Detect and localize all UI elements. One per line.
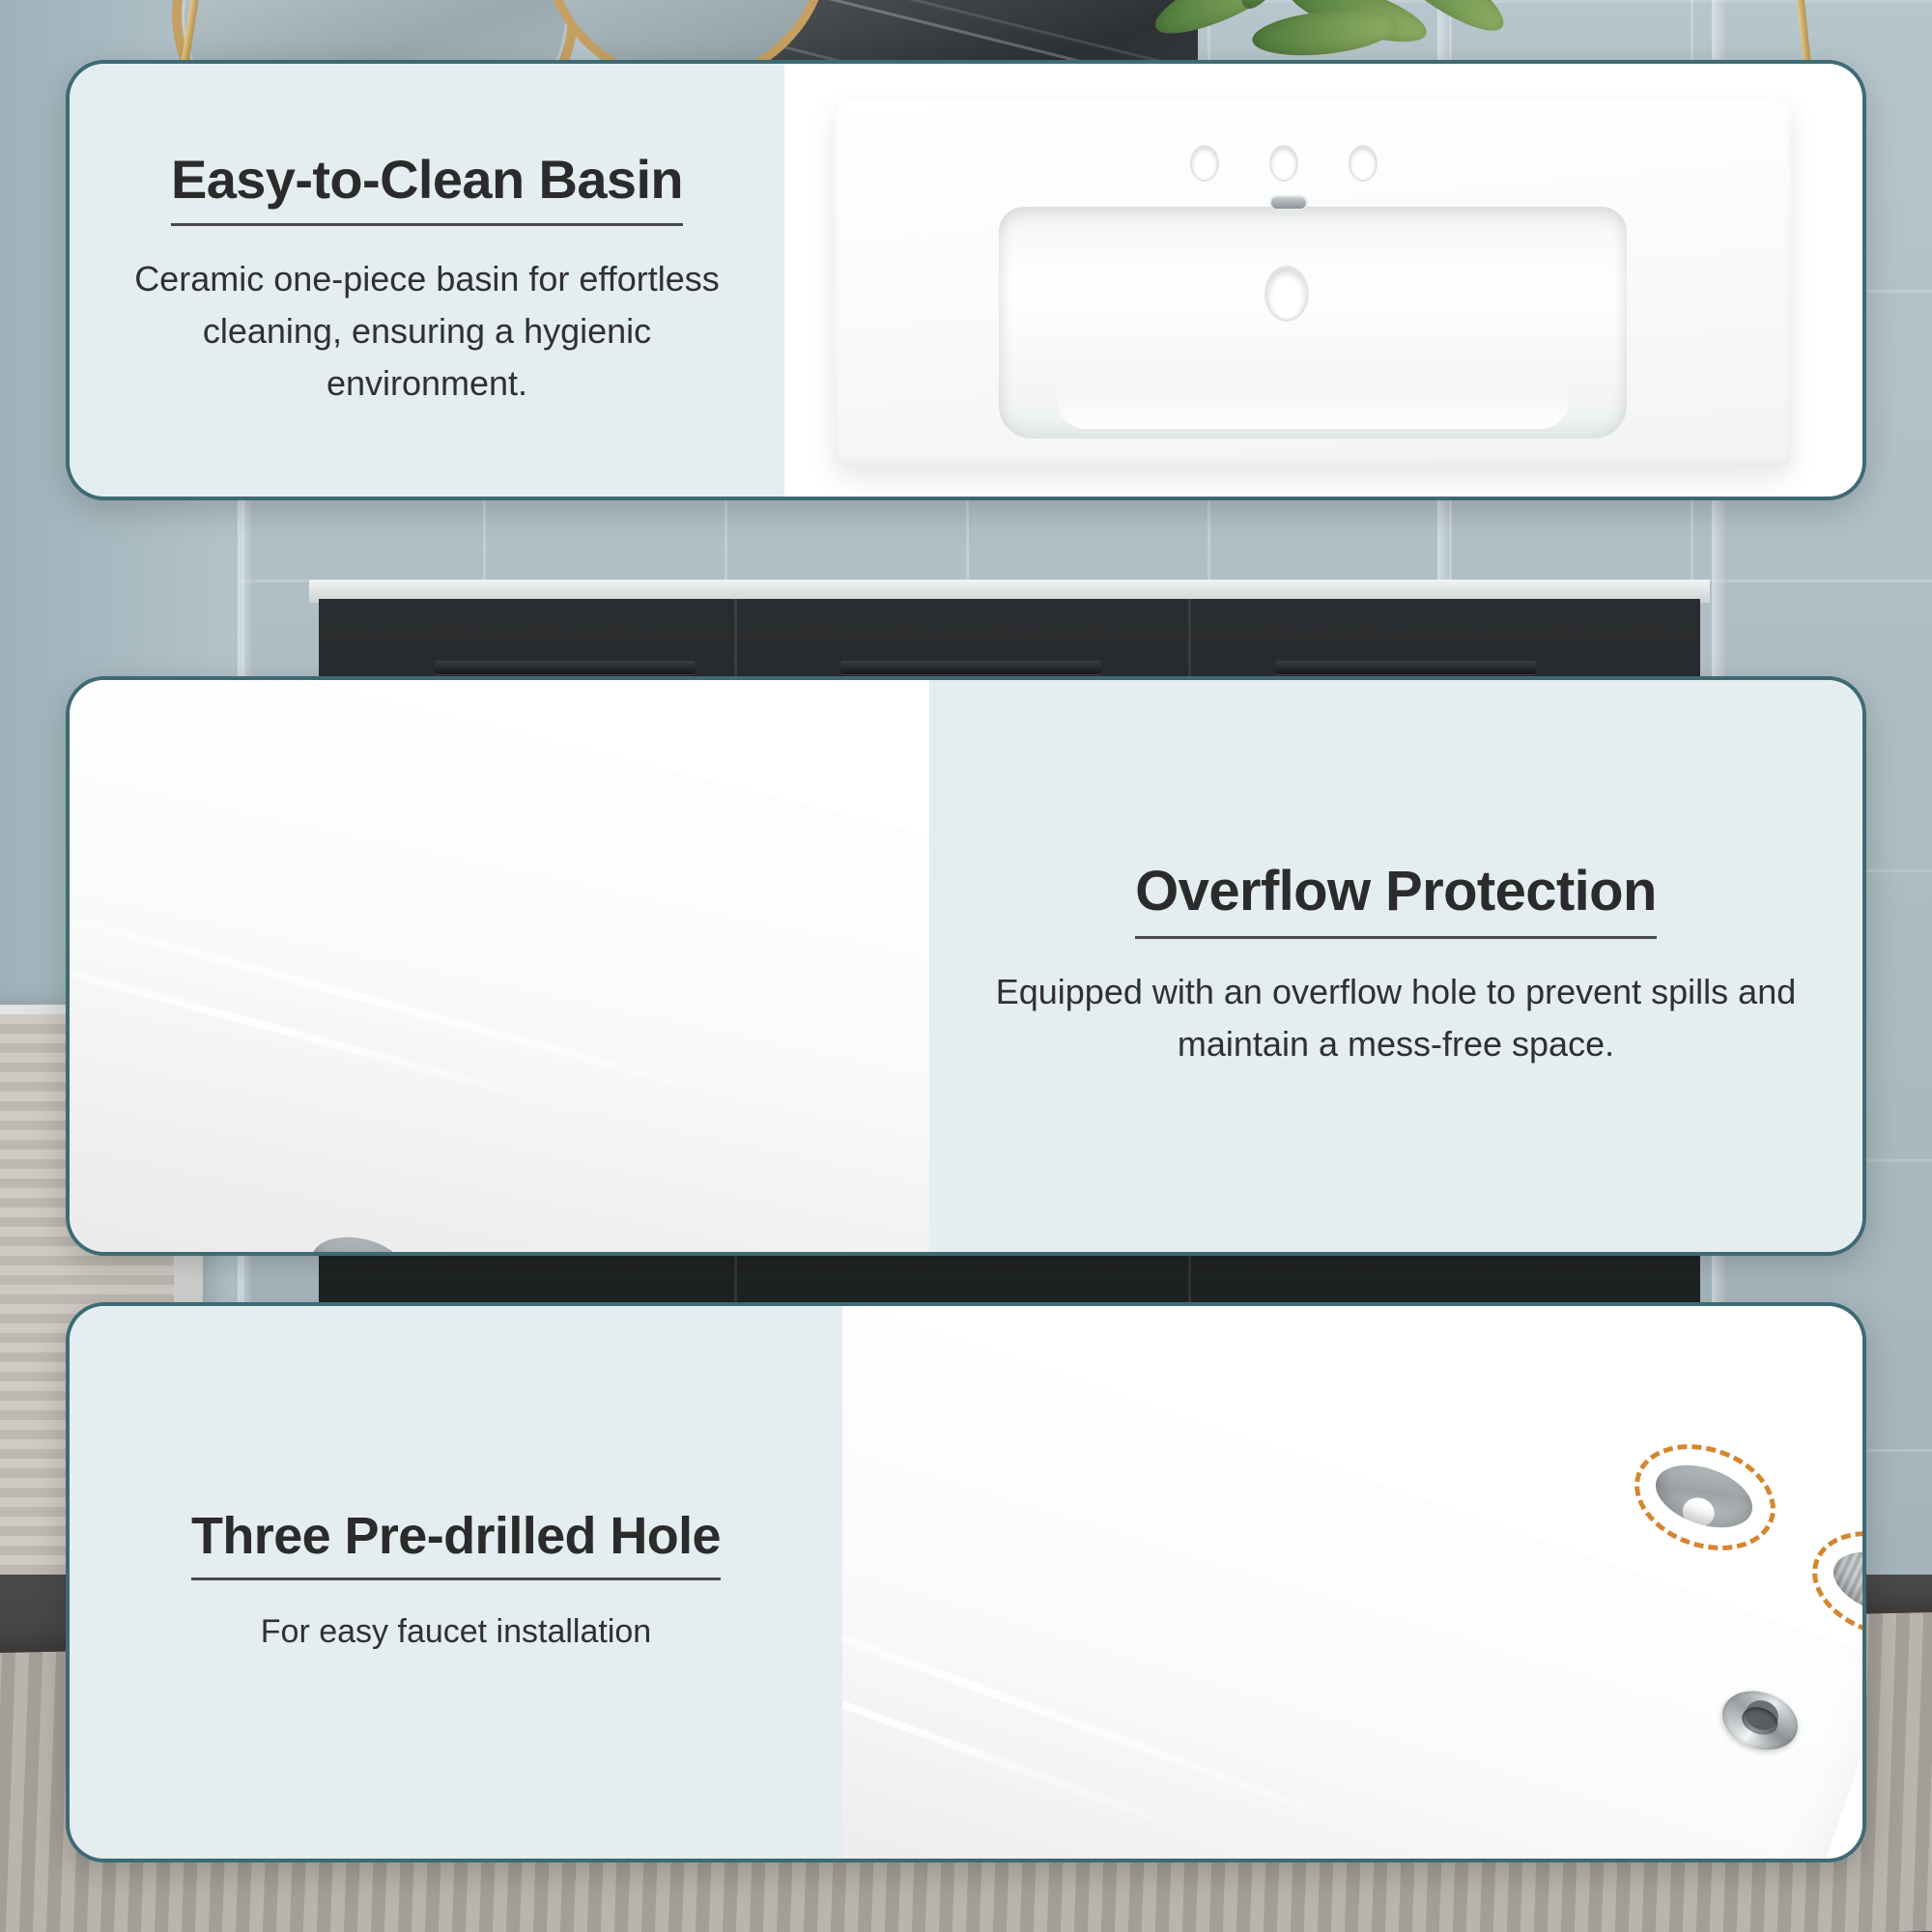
sink-basin [999,207,1627,439]
basin-deck-angled-image [842,1306,1862,1859]
overflow-slot [1271,197,1306,209]
drain-hole [1267,269,1306,319]
card-3-photo-pane [842,1306,1862,1859]
card-3-heading: Three Pre-drilled Hole [191,1508,721,1580]
faucet-hole-right [1350,147,1376,180]
faucet-hole-left [1192,147,1217,180]
sink-top-view-image [835,99,1791,466]
pre-drilled-hole-2 [1825,1541,1862,1627]
card-1-body: Ceramic one-piece basin for effortless c… [122,253,732,410]
feature-card-three-pre-drilled-hole: Three Pre-drilled Hole For easy faucet i… [66,1302,1866,1862]
card-3-text-pane: Three Pre-drilled Hole For easy faucet i… [70,1306,842,1859]
card-2-heading: Overflow Protection [1135,862,1657,939]
feature-card-overflow-protection: Overflow Protection Equipped with an ove… [66,676,1866,1256]
faucet-hole-center [1271,147,1296,180]
card-2-body: Equipped with an overflow hole to preven… [981,966,1810,1070]
basin-deck-closeup-image [70,680,929,1252]
feature-card-easy-to-clean-basin: Easy-to-Clean Basin Ceramic one-piece ba… [66,60,1866,500]
card-2-text-pane: Overflow Protection Equipped with an ove… [929,680,1862,1252]
card-1-text-pane: Easy-to-Clean Basin Ceramic one-piece ba… [70,64,784,497]
pre-drilled-hole-1 [1647,1454,1760,1540]
card-1-photo-pane [784,64,1862,497]
card-1-heading: Easy-to-Clean Basin [171,151,683,225]
card-3-body: For easy faucet installation [261,1607,651,1657]
card-2-photo-pane [70,680,929,1252]
